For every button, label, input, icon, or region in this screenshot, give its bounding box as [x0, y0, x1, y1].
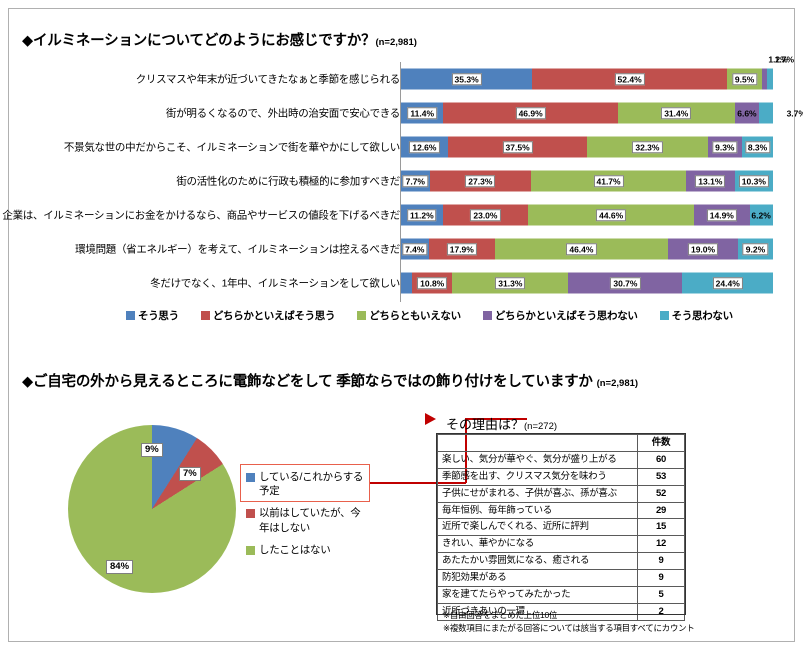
count-cell: 15 [638, 519, 685, 536]
legend-swatch-icon [660, 311, 669, 320]
bar-value-label: 14.9% [707, 209, 737, 222]
callout-arrow-icon [425, 413, 436, 425]
bar-category-label: 環境問題（省エネルギー）を考えて、イルミネーションは控えるべきだ [75, 242, 400, 257]
bar-row: 企業は、イルミネーションにお金をかけるなら、商品やサービスの値段を下げるべきだ1… [22, 200, 782, 230]
count-cell: 9 [638, 553, 685, 570]
pie-legend-item-label: 以前はしていたが、今年はしない [259, 506, 370, 534]
pie-legend-item-label: したことはない [259, 543, 330, 557]
bar-segment: 6.6% [735, 103, 760, 124]
reason-cell: 季節感を出す、クリスマス気分を味わう [438, 468, 638, 485]
bar-segment: 23.0% [443, 205, 529, 226]
legend-item-label: どちらかといえばそう思う [213, 308, 335, 323]
reason-table-body: 楽しい、気分が華やぐ、気分が盛り上がる60季節感を出す、クリスマス気分を味わう5… [438, 451, 685, 620]
bar-segment: 8.3% [742, 137, 773, 158]
bar-segment: 19.0% [668, 239, 739, 260]
stacked-bar-chart: クリスマスや年末が近づいてきたなぁと季節を感じられる35.3%52.4%9.5%… [22, 62, 782, 302]
reason-cell: 家を建てたらやってみたかった [438, 586, 638, 603]
bar-segment: 17.9% [429, 239, 496, 260]
legend-item[interactable]: どちらともいえない [357, 308, 461, 323]
legend-swatch-icon [201, 311, 210, 320]
bar-value-label: 6.6% [736, 109, 757, 118]
reason-table-head: 件数 [438, 435, 685, 452]
bar-value-label: 27.3% [465, 175, 495, 188]
bar-value-label: 9.2% [743, 243, 768, 256]
bar-value-label: 3.7% [786, 109, 803, 118]
bar-chart-legend: そう思うどちらかといえばそう思うどちらともいえないどちらかといえばそう思わないそ… [126, 306, 726, 324]
reason-cell: 近所で楽しんでくれる、近所に評判 [438, 519, 638, 536]
bar-value-label: 1.7% [774, 56, 795, 65]
pie-legend-item[interactable]: 以前はしていたが、今年はしない [246, 506, 370, 534]
bar-category-label: 街の活性化のために行政も積極的に参加すべきだ [176, 174, 400, 189]
reason-table-sample-size: (n=272) [524, 421, 557, 432]
section2-title-text: ◆ご自宅の外から見えるところに電飾などをして 季節ならではの飾り付けをしています… [22, 374, 593, 390]
bar-segment: 10.8% [412, 273, 452, 294]
bar-category-label: 不景気な世の中だからこそ、イルミネーションで街を華やかにして欲しい [64, 140, 400, 155]
footnote-line-1: ※自由回答をまとめた上位10位 [443, 609, 694, 622]
count-cell: 9 [638, 570, 685, 587]
table-row: 子供にせがまれる、子供が喜ぶ、孫が喜ぶ52 [438, 485, 685, 502]
legend-item[interactable]: どちらかといえばそう思う [201, 308, 335, 323]
legend-item[interactable]: そう思わない [660, 308, 733, 323]
count-cell: 29 [638, 502, 685, 519]
bar-value-label: 10.3% [739, 175, 769, 188]
bar-category-label: 企業は、イルミネーションにお金をかけるなら、商品やサービスの値段を下げるべきだ [2, 208, 400, 223]
table-row: 季節感を出す、クリスマス気分を味わう53 [438, 468, 685, 485]
pie-legend-swatch-icon [246, 509, 255, 518]
bar-segment: 14.9% [694, 205, 749, 226]
count-cell: 60 [638, 451, 685, 468]
bar-value-label: 7.7% [403, 175, 428, 188]
table-row: 家を建てたらやってみたかった5 [438, 586, 685, 603]
bar-segment: 3.7% [759, 103, 773, 124]
bar-track: 11.2%23.0%44.6%14.9%6.2% [401, 205, 773, 226]
pie-label-blue: 9% [141, 443, 163, 457]
section1-title: ◆イルミネーションについてどのようにお感じですか？(n=2,981) [22, 29, 417, 50]
bar-segment: 27.3% [430, 171, 531, 192]
bar-segment: 31.3% [452, 273, 568, 294]
bar-row: 街の活性化のために行政も積極的に参加すべきだ7.7%27.3%41.7%13.1… [22, 166, 782, 196]
pie-legend-item[interactable]: したことはない [246, 543, 370, 557]
legend-item-label: どちらともいえない [369, 308, 461, 323]
bar-segment: 30.7% [568, 273, 682, 294]
bar-segment: 46.9% [443, 103, 617, 124]
section1-title-text: ◆イルミネーションについてどのようにお感じですか？ [22, 33, 375, 49]
bar-value-label: 19.0% [688, 243, 718, 256]
bar-segment: 13.1% [686, 171, 735, 192]
section2-title: ◆ご自宅の外から見えるところに電飾などをして 季節ならではの飾り付けをしています… [22, 370, 638, 391]
bar-segment: 35.3% [401, 69, 532, 90]
bar-track: 3.0%10.8%31.3%30.7%24.4% [401, 273, 773, 294]
bar-segment: 9.2% [738, 239, 772, 260]
bar-value-label: 35.3% [452, 73, 482, 86]
bar-track: 35.3%52.4%9.5%1.2%1.7% [401, 69, 773, 90]
bar-value-label: 44.6% [596, 209, 626, 222]
bar-segment: 9.3% [708, 137, 743, 158]
pie-label-red: 7% [179, 467, 201, 481]
reason-cell: きれい、華やかになる [438, 536, 638, 553]
bar-value-label: 41.7% [593, 175, 623, 188]
bar-segment: 41.7% [531, 171, 686, 192]
bar-value-label: 7.4% [402, 243, 427, 256]
bar-segment: 46.4% [495, 239, 668, 260]
reason-cell: 防犯効果がある [438, 570, 638, 587]
bar-segment: 24.4% [682, 273, 773, 294]
bar-track: 7.7%27.3%41.7%13.1%10.3% [401, 171, 773, 192]
legend-item[interactable]: そう思う [126, 308, 179, 323]
count-cell: 53 [638, 468, 685, 485]
count-cell: 52 [638, 485, 685, 502]
bar-segment: 3.0% [401, 273, 412, 294]
bar-track: 7.4%17.9%46.4%19.0%9.2% [401, 239, 773, 260]
bar-value-label: 31.4% [661, 107, 691, 120]
bar-value-label: 12.6% [409, 141, 439, 154]
bar-segment: 12.6% [401, 137, 448, 158]
table-row: 楽しい、気分が華やぐ、気分が盛り上がる60 [438, 451, 685, 468]
bar-segment: 7.7% [401, 171, 430, 192]
bar-row: 街が明るくなるので、外出時の治安面で安心できる11.4%46.9%31.4%6.… [22, 98, 782, 128]
bar-value-label: 37.5% [503, 141, 533, 154]
callout-highlight-box [240, 464, 370, 502]
bar-value-label: 13.1% [695, 175, 725, 188]
survey-report-page: ◆イルミネーションについてどのようにお感じですか？(n=2,981) クリスマス… [0, 0, 803, 650]
bar-value-label: 52.4% [615, 73, 645, 86]
bar-value-label: 17.9% [447, 243, 477, 256]
bar-row: クリスマスや年末が近づいてきたなぁと季節を感じられる35.3%52.4%9.5%… [22, 64, 782, 94]
bar-segment: 31.4% [618, 103, 735, 124]
bar-category-label: 街が明るくなるので、外出時の治安面で安心できる [166, 106, 400, 121]
count-column-header: 件数 [638, 435, 685, 452]
reason-cell: 毎年恒例、毎年飾っている [438, 502, 638, 519]
pie-label-green: 84% [106, 560, 133, 574]
table-row: 防犯効果がある9 [438, 570, 685, 587]
count-cell: 5 [638, 586, 685, 603]
bar-segment: 32.3% [587, 137, 707, 158]
bar-value-label: 11.4% [407, 107, 437, 120]
bar-value-label: 46.4% [566, 243, 596, 256]
reason-table-title: その理由は？(n=272) [446, 414, 557, 433]
bar-segment: 10.3% [735, 171, 773, 192]
bar-value-label: 31.3% [495, 277, 525, 290]
legend-swatch-icon [357, 311, 366, 320]
bar-value-label: 32.3% [632, 141, 662, 154]
footnotes: ※自由回答をまとめた上位10位 ※複数項目にまたがる回答については該当する項目す… [443, 609, 694, 635]
table-row: 毎年恒例、毎年飾っている29 [438, 502, 685, 519]
bar-row: 冬だけでなく、1年中、イルミネーションをして欲しい3.0%10.8%31.3%3… [22, 268, 782, 298]
bar-value-label: 24.4% [713, 277, 743, 290]
legend-item[interactable]: どちらかといえばそう思わない [483, 308, 638, 323]
bar-value-label: 11.2% [407, 209, 437, 222]
legend-item-label: どちらかといえばそう思わない [495, 308, 638, 323]
reason-column-header [438, 435, 638, 452]
bar-value-label: 9.5% [732, 73, 757, 86]
bar-segment: 37.5% [448, 137, 588, 158]
bar-segment: 11.2% [401, 205, 443, 226]
table-row: 近所で楽しんでくれる、近所に評判15 [438, 519, 685, 536]
legend-swatch-icon [483, 311, 492, 320]
bar-value-label: 9.3% [712, 141, 737, 154]
footnote-line-2: ※複数項目にまたがる回答については該当する項目すべてにカウント [443, 622, 694, 635]
bar-segment: 1.7% [767, 69, 773, 90]
bar-value-label: 6.2% [750, 211, 771, 220]
legend-item-label: そう思わない [672, 308, 733, 323]
bar-value-label: 23.0% [470, 209, 500, 222]
reason-cell: あたたかい雰囲気になる、癒される [438, 553, 638, 570]
bar-row: 環境問題（省エネルギー）を考えて、イルミネーションは控えるべきだ7.4%17.9… [22, 234, 782, 264]
bar-value-label: 30.7% [610, 277, 640, 290]
reason-table-title-text: その理由は？ [446, 417, 524, 432]
legend-item-label: そう思う [138, 308, 179, 323]
bar-segment: 52.4% [532, 69, 727, 90]
bar-segment: 7.4% [401, 239, 429, 260]
bar-value-label: 46.9% [516, 107, 546, 120]
bar-category-label: 冬だけでなく、1年中、イルミネーションをして欲しい [150, 276, 400, 291]
bar-track: 11.4%46.9%31.4%6.6%3.7% [401, 103, 773, 124]
table-row: きれい、華やかになる12 [438, 536, 685, 553]
bar-segment: 11.4% [401, 103, 443, 124]
reason-cell: 楽しい、気分が華やぐ、気分が盛り上がる [438, 451, 638, 468]
reason-table-header-row: 件数 [438, 435, 685, 452]
section2-sample-size: (n=2,981) [597, 378, 638, 389]
bar-segment: 44.6% [528, 205, 694, 226]
bar-track: 12.6%37.5%32.3%9.3%8.3% [401, 137, 773, 158]
bar-row: 不景気な世の中だからこそ、イルミネーションで街を華やかにして欲しい12.6%37… [22, 132, 782, 162]
reason-table: 件数 楽しい、気分が華やぐ、気分が盛り上がる60季節感を出す、クリスマス気分を味… [437, 434, 685, 621]
bar-category-label: クリスマスや年末が近づいてきたなぁと季節を感じられる [136, 72, 400, 87]
reason-cell: 子供にせがまれる、子供が喜ぶ、孫が喜ぶ [438, 485, 638, 502]
table-row: あたたかい雰囲気になる、癒される9 [438, 553, 685, 570]
bar-segment: 6.2% [750, 205, 773, 226]
bar-value-label: 8.3% [745, 141, 770, 154]
bar-value-label: 10.8% [417, 277, 447, 290]
count-cell: 12 [638, 536, 685, 553]
bar-segment: 9.5% [727, 69, 762, 90]
section1-sample-size: (n=2,981) [375, 37, 416, 48]
legend-swatch-icon [126, 311, 135, 320]
pie-legend-swatch-icon [246, 546, 255, 555]
